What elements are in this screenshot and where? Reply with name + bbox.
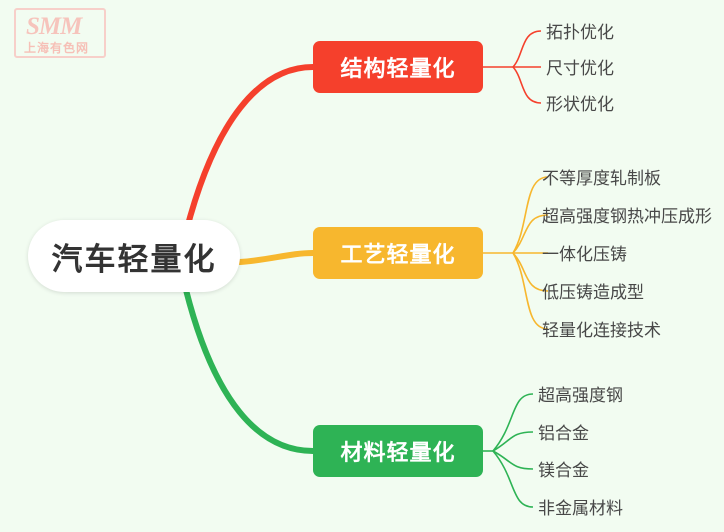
link-root-to-structure bbox=[186, 67, 313, 232]
link-material-leaf-0 bbox=[493, 394, 533, 451]
branch-node-structure[interactable]: 结构轻量化 bbox=[313, 41, 483, 93]
link-root-to-process bbox=[240, 253, 313, 262]
link-material-leaf-3 bbox=[493, 451, 533, 507]
leaf-structure-2[interactable]: 形状优化 bbox=[546, 96, 614, 113]
leaf-material-1[interactable]: 铝合金 bbox=[538, 425, 589, 442]
mindmap-canvas: SMM 上海有色网 汽车轻量化 结构轻量化 工艺轻量化 bbox=[0, 0, 724, 532]
leaf-material-3[interactable]: 非金属材料 bbox=[538, 500, 623, 517]
leaf-process-4[interactable]: 轻量化连接技术 bbox=[542, 322, 661, 339]
leaf-structure-0[interactable]: 拓扑优化 bbox=[546, 24, 614, 41]
branch-node-process[interactable]: 工艺轻量化 bbox=[313, 227, 483, 279]
leaf-material-0[interactable]: 超高强度钢 bbox=[538, 387, 623, 404]
link-structure-leaf-2 bbox=[513, 67, 541, 103]
branch-node-process-label: 工艺轻量化 bbox=[340, 237, 455, 269]
root-node-label: 汽车轻量化 bbox=[52, 234, 217, 279]
leaf-process-3[interactable]: 低压铸造成型 bbox=[542, 284, 644, 301]
link-structure-leaf-0 bbox=[513, 31, 541, 67]
leaf-process-2[interactable]: 一体化压铸 bbox=[542, 246, 627, 263]
branch-node-structure-label: 结构轻量化 bbox=[340, 51, 455, 83]
link-root-to-material bbox=[186, 290, 313, 451]
leaf-process-1[interactable]: 超高强度钢热冲压成形 bbox=[542, 208, 712, 225]
leaf-material-2[interactable]: 镁合金 bbox=[538, 462, 589, 479]
branch-node-material-label: 材料轻量化 bbox=[340, 435, 455, 467]
leaf-process-0[interactable]: 不等厚度轧制板 bbox=[542, 170, 661, 187]
branch-node-material[interactable]: 材料轻量化 bbox=[313, 425, 483, 477]
root-node-automotive-lightweighting[interactable]: 汽车轻量化 bbox=[28, 220, 240, 292]
leaf-structure-1[interactable]: 尺寸优化 bbox=[546, 60, 614, 77]
